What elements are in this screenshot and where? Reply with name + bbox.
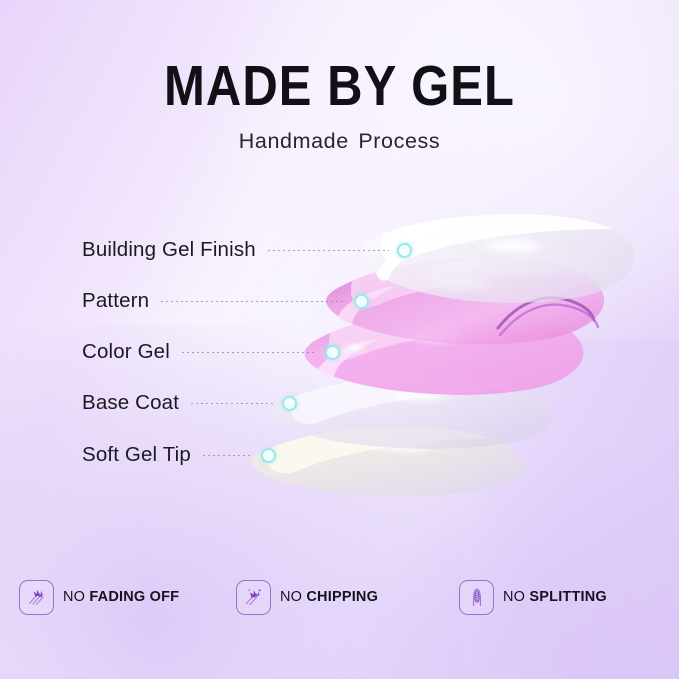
callout-color-gel[interactable]: Color Gel bbox=[82, 341, 340, 363]
no-chipping-icon bbox=[236, 580, 271, 615]
layer-dot-icon bbox=[354, 294, 369, 309]
leader-line bbox=[203, 455, 253, 456]
leader-line bbox=[268, 250, 389, 251]
feature-label: NO FADING OFF bbox=[63, 589, 179, 605]
feature-prefix: NO bbox=[280, 589, 306, 605]
feature-prefix: NO bbox=[503, 589, 529, 605]
leader-line bbox=[191, 403, 274, 404]
callout-label: Building Gel Finish bbox=[82, 238, 256, 262]
callout-label: Soft Gel Tip bbox=[82, 443, 191, 467]
poster-root: MADE BY GEL Handmade Process bbox=[0, 0, 679, 679]
callout-label: Base Coat bbox=[82, 391, 179, 415]
callout-building-gel-finish[interactable]: Building Gel Finish bbox=[82, 239, 412, 261]
leader-line bbox=[161, 301, 346, 302]
feature-emphasis: CHIPPING bbox=[306, 589, 378, 605]
callout-soft-gel-tip[interactable]: Soft Gel Tip bbox=[82, 444, 276, 466]
feature-emphasis: FADING OFF bbox=[89, 589, 179, 605]
layer-dot-icon bbox=[261, 448, 276, 463]
callout-pattern[interactable]: Pattern bbox=[82, 290, 369, 312]
callout-label: Color Gel bbox=[82, 340, 170, 364]
feature-no-chipping[interactable]: NO CHIPPING bbox=[224, 577, 441, 617]
layer-dot-icon bbox=[325, 345, 340, 360]
no-splitting-icon bbox=[459, 580, 494, 615]
feature-label: NO CHIPPING bbox=[280, 589, 378, 605]
no-fading-icon bbox=[19, 580, 54, 615]
feature-badges: NO FADING OFF NO CHIPPING bbox=[0, 577, 679, 617]
feature-no-splitting[interactable]: NO SPLITTING bbox=[441, 577, 664, 617]
callout-label: Pattern bbox=[82, 289, 149, 313]
feature-label: NO SPLITTING bbox=[503, 589, 607, 605]
feature-no-fading-off[interactable]: NO FADING OFF bbox=[15, 577, 224, 617]
leader-line bbox=[182, 352, 317, 353]
layer-dot-icon bbox=[397, 243, 412, 258]
layer-dot-icon bbox=[282, 396, 297, 411]
feature-prefix: NO bbox=[63, 589, 89, 605]
callout-base-coat[interactable]: Base Coat bbox=[82, 392, 297, 414]
feature-emphasis: SPLITTING bbox=[529, 589, 607, 605]
